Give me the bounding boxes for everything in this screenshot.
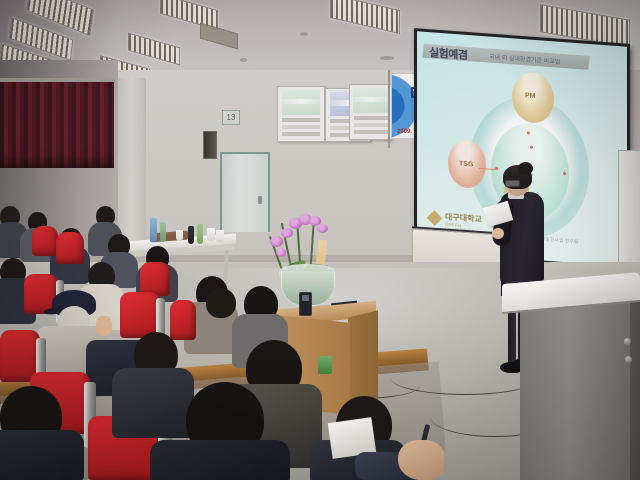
mobile-phone[interactable]: [299, 292, 312, 316]
paper-cup: [207, 228, 215, 241]
paper-cup: [176, 230, 183, 241]
auditorium-seat[interactable]: [170, 300, 196, 340]
ceiling-sprinkler: [380, 56, 394, 60]
slide-title: 실험예겸: [429, 44, 467, 63]
foreground-hand: [398, 440, 444, 480]
lectern[interactable]: [520, 300, 630, 480]
auditorium-seat[interactable]: [32, 226, 58, 256]
stage-curtain: [0, 82, 114, 168]
framed-poster: [277, 86, 325, 142]
lectern-knob[interactable]: [624, 338, 631, 345]
audience-body: [112, 368, 194, 438]
lecture-hall-photo: 13 대구 대 2009. 11. 실험예겸 국내 외 실내환경기준 비교법 P…: [0, 0, 640, 480]
water-bottle: [197, 224, 203, 244]
wall-speaker-icon: [203, 131, 217, 159]
slide-marker-dot: [527, 131, 530, 134]
orchid-bloom: [270, 236, 283, 247]
presenter-glasses: [505, 180, 520, 187]
lectern-knob[interactable]: [625, 356, 632, 363]
right-whiteboard: [618, 150, 640, 272]
logo-diamond-icon: [427, 210, 443, 226]
slide-marker-dot: [495, 167, 498, 170]
audience-body: [150, 440, 290, 480]
auditorium-seat[interactable]: [56, 232, 84, 264]
side-door[interactable]: [220, 152, 270, 232]
slide-marker-dot: [530, 146, 533, 149]
paper-cup: [216, 230, 224, 242]
audience-hand: [96, 316, 112, 336]
orchid-bloom: [276, 248, 286, 257]
door-handle[interactable]: [258, 196, 262, 204]
audience-body: [0, 430, 84, 480]
water-bottle: [150, 218, 157, 242]
ceiling-sprinkler: [240, 58, 247, 62]
bubble-tsg-label: TSG: [459, 160, 473, 168]
audience-head: [206, 288, 236, 318]
presenter-hand: [492, 228, 504, 239]
auditorium-seat[interactable]: [140, 262, 170, 296]
audience-drink: [318, 356, 332, 374]
orchid-bloom: [317, 224, 328, 233]
bubble-pm-label: PM: [525, 92, 536, 100]
framed-poster: [349, 84, 393, 140]
slide-marker-dot: [563, 172, 566, 175]
ceiling-sprinkler: [300, 32, 308, 36]
orchid-bloom: [281, 228, 293, 238]
presenter-hair-bun: [518, 162, 533, 175]
banner-pole: [388, 70, 390, 148]
water-bottle: [188, 226, 194, 244]
water-bottle: [160, 222, 166, 242]
wall-column: [118, 78, 146, 258]
room-number-sign: 13: [222, 110, 240, 125]
